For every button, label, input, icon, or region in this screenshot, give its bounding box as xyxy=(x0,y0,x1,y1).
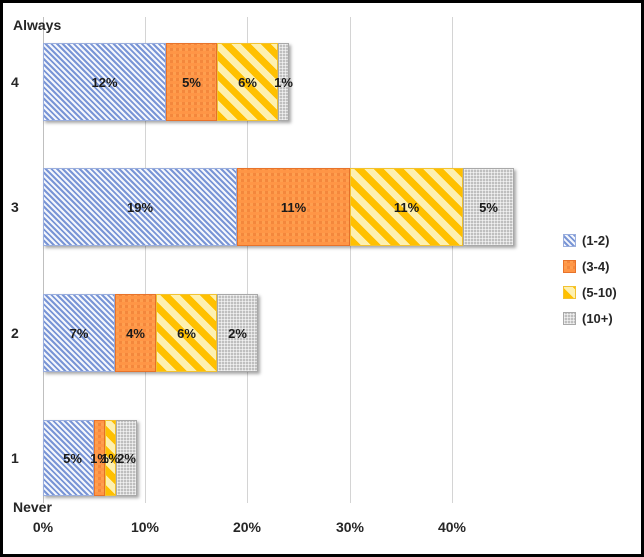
bar-label: 11% xyxy=(394,200,419,215)
legend-swatch-grey-icon xyxy=(563,312,576,325)
bar-segment-3-3-4[interactable]: 11% xyxy=(237,168,350,246)
ytick-3: 3 xyxy=(11,199,37,215)
bar-segment-3-5-10[interactable]: 11% xyxy=(350,168,463,246)
ytick-2: 2 xyxy=(11,325,37,341)
legend-swatch-yellow-icon xyxy=(563,286,576,299)
bar-label: 7% xyxy=(70,326,89,341)
legend-label: (5-10) xyxy=(582,285,617,300)
legend-item-10plus[interactable]: (10+) xyxy=(563,305,639,331)
legend-swatch-orange-icon xyxy=(563,260,576,273)
plot-area: Always Never 4 3 2 1 12% 5% 6% 1% 19% xyxy=(3,3,641,554)
bar-segment-2-3-4[interactable]: 4% xyxy=(115,294,156,372)
bar-label: 19% xyxy=(127,200,153,215)
legend-item-5-10[interactable]: (5-10) xyxy=(563,279,639,305)
bar-segment-4-1-2[interactable]: 12% xyxy=(43,43,166,121)
axis-endpoint-always: Always xyxy=(13,17,61,33)
bar-label: 5% xyxy=(63,451,82,466)
legend-label: (1-2) xyxy=(582,233,609,248)
bar-segment-4-3-4[interactable]: 5% xyxy=(166,43,217,121)
bar-segment-2-10plus[interactable]: 2% xyxy=(217,294,258,372)
bar-label: 1% xyxy=(274,75,293,90)
xtick-10: 10% xyxy=(115,519,175,535)
bar-label: 2% xyxy=(117,451,136,466)
bar-segment-2-1-2[interactable]: 7% xyxy=(43,294,115,372)
axis-endpoint-never: Never xyxy=(13,499,52,515)
bar-segment-3-10plus[interactable]: 5% xyxy=(463,168,514,246)
bar-segment-4-5-10[interactable]: 6% xyxy=(217,43,278,121)
bar-label: 6% xyxy=(238,75,257,90)
xtick-40: 40% xyxy=(422,519,482,535)
bar-segment-2-5-10[interactable]: 6% xyxy=(156,294,217,372)
legend-item-1-2[interactable]: (1-2) xyxy=(563,227,639,253)
bar-label: 5% xyxy=(182,75,201,90)
bar-label: 6% xyxy=(177,326,196,341)
legend-item-3-4[interactable]: (3-4) xyxy=(563,253,639,279)
bar-segment-1-1-2[interactable]: 5% xyxy=(43,420,94,496)
legend-label: (3-4) xyxy=(582,259,609,274)
xtick-20: 20% xyxy=(217,519,277,535)
chart-frame: Always Never 4 3 2 1 12% 5% 6% 1% 19% xyxy=(0,0,644,557)
legend-swatch-blue-icon xyxy=(563,234,576,247)
bar-label: 5% xyxy=(479,200,498,215)
bar-segment-4-10plus[interactable]: 1% xyxy=(278,43,289,121)
ytick-4: 4 xyxy=(11,74,37,90)
gridline-40pct xyxy=(452,17,453,503)
xtick-30: 30% xyxy=(320,519,380,535)
legend-label: (10+) xyxy=(582,311,613,326)
bar-label: 12% xyxy=(91,75,117,90)
bar-segment-3-1-2[interactable]: 19% xyxy=(43,168,237,246)
bar-label: 4% xyxy=(126,326,145,341)
xtick-0: 0% xyxy=(13,519,73,535)
bar-label: 11% xyxy=(281,200,306,215)
ytick-1: 1 xyxy=(11,450,37,466)
bar-segment-1-5-10[interactable]: 1% xyxy=(105,420,116,496)
bar-segment-1-10plus[interactable]: 2% xyxy=(116,420,137,496)
gridline-30pct xyxy=(350,17,351,503)
bar-label: 2% xyxy=(228,326,247,341)
chart-legend: (1-2) (3-4) (5-10) (10+) xyxy=(563,227,639,331)
